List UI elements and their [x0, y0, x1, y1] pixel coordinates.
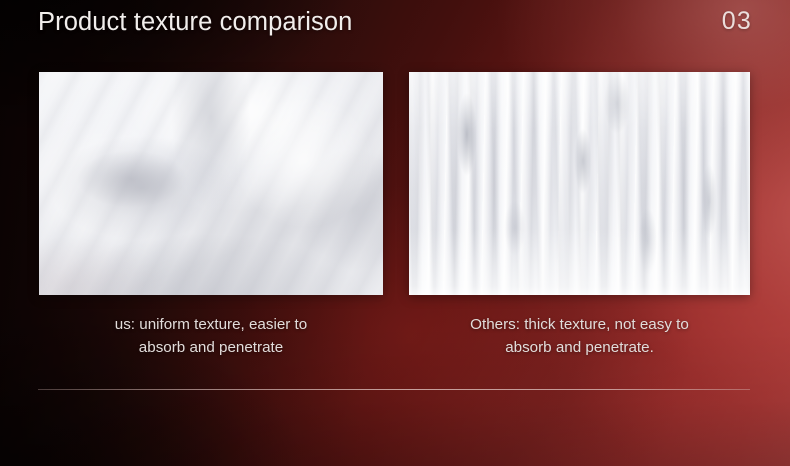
- caption-ours-line1: us: uniform texture, easier to: [39, 313, 383, 336]
- slide-canvas: Product texture comparison 03 us: unifor…: [0, 0, 790, 466]
- slide-content: Product texture comparison 03 us: unifor…: [0, 0, 790, 466]
- thick-sheen-layer: [409, 72, 750, 295]
- comparison-panel-ours: us: uniform texture, easier to absorb an…: [39, 72, 383, 359]
- caption-others: Others: thick texture, not easy to absor…: [409, 313, 750, 359]
- texture-photo-others: [409, 72, 750, 295]
- footer-divider: [38, 389, 750, 390]
- caption-others-line1: Others: thick texture, not easy to: [409, 313, 750, 336]
- slide-number: 03: [722, 7, 752, 36]
- caption-ours-line2: absorb and penetrate: [39, 336, 383, 359]
- slide-title: Product texture comparison: [38, 8, 352, 37]
- texture-photo-ours: [39, 72, 383, 295]
- comparison-panel-others: Others: thick texture, not easy to absor…: [409, 72, 750, 359]
- caption-ours: us: uniform texture, easier to absorb an…: [39, 313, 383, 359]
- cream-shadow-layer: [39, 72, 383, 295]
- caption-others-line2: absorb and penetrate.: [409, 336, 750, 359]
